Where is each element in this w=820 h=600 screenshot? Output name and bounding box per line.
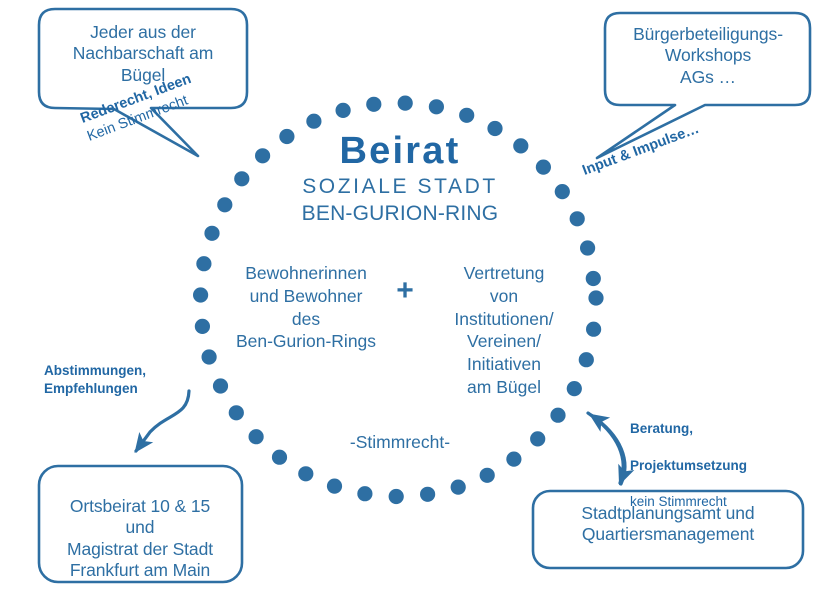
arrow-abstimmungen [136, 391, 189, 451]
callout-neighbourhood-label: Jeder aus der Nachbarschaft am Bügel [42, 22, 244, 86]
plus-icon: + [390, 276, 420, 306]
edge-label-beratung-line2: Projektumsetzung [630, 457, 795, 475]
edge-label-beratung: Beratung, Projektumsetzung kein Stimmrec… [630, 402, 795, 530]
center-subtitle-programme: SOZIALE STADT [255, 174, 545, 200]
edge-label-abstimmungen: Abstimmungen, Empfehlungen [44, 362, 194, 398]
center-voting-rights-note: -Stimmrecht- [300, 432, 500, 453]
center-subtitle-location: BEN-GURION-RING [255, 201, 545, 227]
callout-workshops-label: Bürgerbeteiligungs- Workshops AGs … [608, 24, 808, 88]
center-column-residents: Bewohnerinnen und Bewohner des Ben-Gurio… [214, 262, 398, 353]
center-column-institutions: Vertretung von Institutionen/ Vereinen/ … [428, 262, 580, 399]
diagram-canvas: Jeder aus der Nachbarschaft am Bügel Bür… [0, 0, 820, 600]
edge-label-beratung-line1: Beratung, [630, 420, 795, 438]
edge-label-beratung-line3: kein Stimmrecht [630, 493, 795, 511]
center-title: Beirat [255, 128, 545, 174]
callout-ortsbeirat-label: Ortsbeirat 10 & 15 und Magistrat der Sta… [42, 496, 238, 581]
arrow-beratung-down [588, 413, 623, 483]
